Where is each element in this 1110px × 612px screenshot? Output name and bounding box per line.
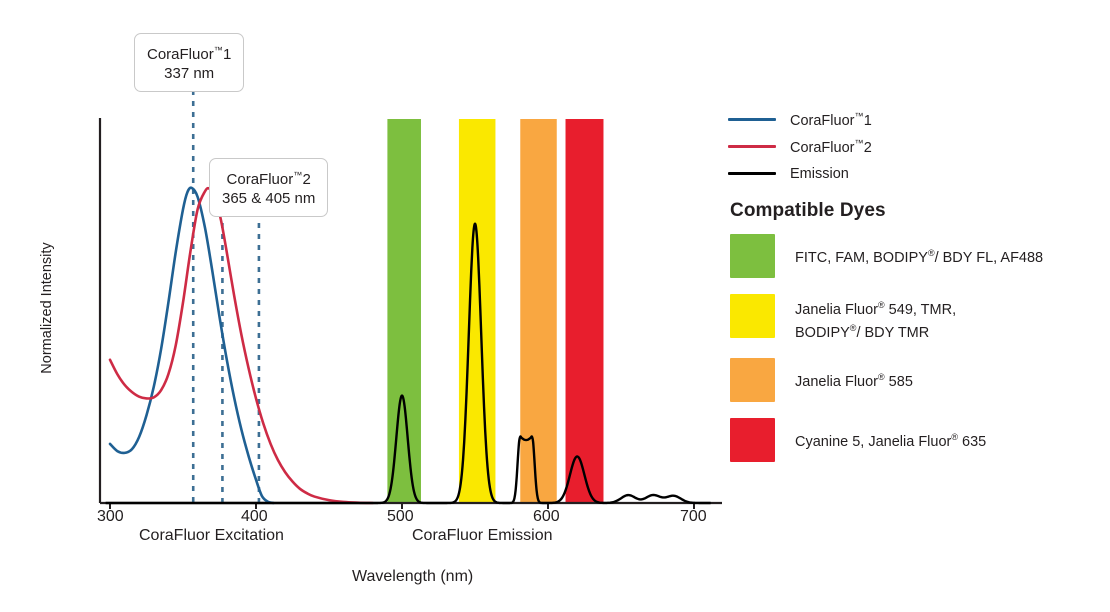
- dye-swatch-0: [730, 234, 775, 278]
- registered-symbol: ®: [951, 432, 958, 442]
- x-tick-label-500: 500: [387, 508, 414, 526]
- callout-corafluor2-line1: CoraFluor™2: [222, 166, 315, 189]
- marker-dashed-lines: [193, 90, 259, 503]
- registered-symbol: ®: [878, 300, 885, 310]
- emission-bands: [387, 119, 603, 503]
- legend-item-0: CoraFluor™1: [728, 106, 1103, 133]
- dye-label-2: Janelia Fluor® 585: [795, 358, 913, 391]
- callout-corafluor1-line2: 337 nm: [147, 64, 231, 83]
- legend-swatch-0: [728, 118, 776, 121]
- x-tick-label-600: 600: [533, 508, 560, 526]
- registered-symbol: ®: [850, 323, 857, 333]
- dye-label-1: Janelia Fluor® 549, TMR,BODIPY®/ BDY TMR: [795, 294, 956, 342]
- legend-swatch-1: [728, 145, 776, 148]
- dye-swatch-3: [730, 418, 775, 462]
- trademark-symbol: ™: [854, 111, 863, 121]
- trademark-symbol: ™: [854, 138, 863, 148]
- emission-band-2: [520, 119, 557, 503]
- spectra-figure: Normalized Intensity CoraFluor™1 337 nm …: [0, 0, 1110, 612]
- callout-corafluor1: CoraFluor™1 337 nm: [134, 33, 244, 92]
- legend-item-1: CoraFluor™2: [728, 133, 1103, 160]
- legend-label-2: Emission: [790, 166, 849, 182]
- callout-corafluor2: CoraFluor™2 365 & 405 nm: [209, 158, 328, 217]
- dye-label-0: FITC, FAM, BODIPY®/ BDY FL, AF488: [795, 234, 1043, 267]
- section-label-excitation: CoraFluor Excitation: [139, 527, 284, 545]
- emission-band-3: [566, 119, 604, 503]
- compatible-dyes-title: Compatible Dyes: [730, 200, 886, 222]
- emission-band-0: [387, 119, 421, 503]
- series-legend: CoraFluor™1CoraFluor™2Emission: [728, 106, 1103, 187]
- callout-corafluor1-line1: CoraFluor™1: [147, 41, 231, 64]
- y-axis-label: Normalized Intensity: [39, 228, 55, 388]
- callout-corafluor2-line2: 365 & 405 nm: [222, 189, 315, 208]
- x-tick-label-400: 400: [241, 508, 268, 526]
- compatible-dyes-list: FITC, FAM, BODIPY®/ BDY FL, AF488Janelia…: [730, 234, 1105, 478]
- registered-symbol: ®: [928, 248, 935, 258]
- curve-series-1: [110, 188, 373, 503]
- dye-label-3: Cyanine 5, Janelia Fluor® 635: [795, 418, 986, 451]
- dye-swatch-1: [730, 294, 775, 338]
- dye-item-2: Janelia Fluor® 585: [730, 358, 1105, 402]
- section-label-emission: CoraFluor Emission: [412, 527, 552, 545]
- legend-item-2: Emission: [728, 160, 1103, 187]
- legend-label-1: CoraFluor™2: [790, 138, 872, 156]
- registered-symbol: ®: [878, 372, 885, 382]
- x-axis-label: Wavelength (nm): [352, 568, 473, 586]
- legend-label-0: CoraFluor™1: [790, 111, 872, 129]
- x-tick-label-300: 300: [97, 508, 124, 526]
- dye-item-0: FITC, FAM, BODIPY®/ BDY FL, AF488: [730, 234, 1105, 278]
- dye-item-1: Janelia Fluor® 549, TMR,BODIPY®/ BDY TMR: [730, 294, 1105, 342]
- x-tick-label-700: 700: [680, 508, 707, 526]
- dye-swatch-2: [730, 358, 775, 402]
- dye-item-3: Cyanine 5, Janelia Fluor® 635: [730, 418, 1105, 462]
- legend-swatch-2: [728, 172, 776, 175]
